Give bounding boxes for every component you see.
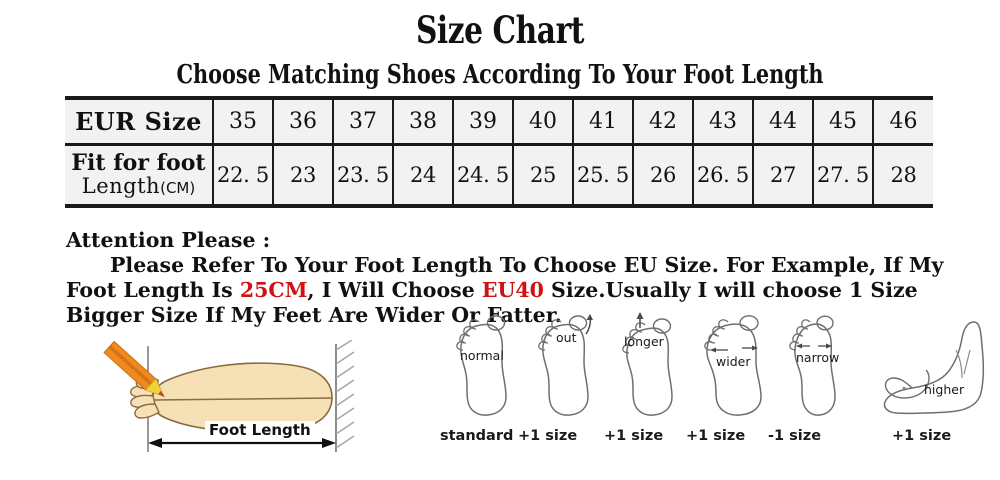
row-header-eur-size: EUR Size bbox=[65, 98, 213, 144]
attention-heading: Attention Please : bbox=[66, 228, 946, 253]
foot-type-narrow-icon: narrow bbox=[790, 316, 839, 415]
foot-type-caption-higher: +1 size bbox=[892, 428, 951, 444]
attention-highlight-length: 25CM bbox=[240, 278, 308, 302]
cell-len-5: 25 bbox=[513, 144, 573, 206]
cell-len-8: 26. 5 bbox=[693, 144, 753, 206]
cell-eur-10: 45 bbox=[813, 98, 873, 144]
cell-eur-0: 35 bbox=[213, 98, 273, 144]
foot-type-caption-standard: standard bbox=[440, 428, 513, 444]
cell-len-0: 22. 5 bbox=[213, 144, 273, 206]
row-header-unit: (CM) bbox=[160, 179, 195, 197]
cell-len-3: 24 bbox=[393, 144, 453, 206]
foot-type-longer-icon: longer bbox=[623, 312, 672, 415]
cell-len-2: 23. 5 bbox=[333, 144, 393, 206]
cell-eur-7: 42 bbox=[633, 98, 693, 144]
cell-eur-6: 41 bbox=[573, 98, 633, 144]
foot-type-higher-icon: higher bbox=[884, 322, 983, 413]
foot-type-out-icon: out bbox=[539, 314, 593, 415]
page-subtitle: Choose Matching Shoes According To Your … bbox=[100, 60, 900, 90]
page-title: Size Chart bbox=[100, 8, 900, 52]
cell-len-6: 25. 5 bbox=[573, 144, 633, 206]
cell-eur-1: 36 bbox=[273, 98, 333, 144]
foot-type-inner-label-out: out bbox=[556, 330, 577, 345]
foot-length-dimension-arrow bbox=[148, 438, 336, 448]
cell-len-4: 24. 5 bbox=[453, 144, 513, 206]
foot-type-inner-label-longer: longer bbox=[624, 334, 665, 349]
row-header-line1: Fit for foot bbox=[65, 152, 212, 175]
wall-hatch-icon bbox=[336, 340, 354, 452]
foot-type-normal-icon: normal bbox=[457, 316, 506, 415]
foot-measure-diagram bbox=[96, 340, 366, 460]
size-chart-page: Size Chart Choose Matching Shoes Accordi… bbox=[0, 0, 1000, 480]
cell-len-10: 27. 5 bbox=[813, 144, 873, 206]
foot-type-caption-out: +1 size bbox=[518, 428, 577, 444]
row-header-foot-length: Fit for foot Length(CM) bbox=[65, 144, 213, 206]
cell-len-7: 26 bbox=[633, 144, 693, 206]
cell-eur-9: 44 bbox=[753, 98, 813, 144]
foot-type-caption-narrow: -1 size bbox=[768, 428, 821, 444]
foot-type-captions: standard +1 size +1 size +1 size -1 size… bbox=[430, 428, 990, 452]
cell-eur-3: 38 bbox=[393, 98, 453, 144]
cell-eur-8: 43 bbox=[693, 98, 753, 144]
foot-type-wider-icon: wider bbox=[705, 316, 761, 415]
foot-type-caption-wider: +1 size bbox=[686, 428, 745, 444]
cell-eur-2: 37 bbox=[333, 98, 393, 144]
foot-type-inner-label-higher: higher bbox=[924, 382, 965, 397]
cell-eur-4: 39 bbox=[453, 98, 513, 144]
size-table: EUR Size 35 36 37 38 39 40 41 42 43 44 4… bbox=[65, 96, 933, 208]
foot-length-label: Foot Length bbox=[205, 421, 315, 439]
foot-type-caption-longer: +1 size bbox=[604, 428, 663, 444]
cell-len-9: 27 bbox=[753, 144, 813, 206]
cell-len-1: 23 bbox=[273, 144, 333, 206]
table-row-foot-length: Fit for foot Length(CM) 22. 5 23 23. 5 2… bbox=[65, 144, 933, 206]
foot-type-inner-label-narrow: narrow bbox=[796, 350, 839, 365]
foot-type-inner-label-normal: normal bbox=[460, 348, 504, 363]
foot-types-diagram: normal out longer bbox=[430, 308, 990, 420]
cell-eur-5: 40 bbox=[513, 98, 573, 144]
row-header-length-word: Length bbox=[82, 174, 160, 198]
attention-highlight-eu: EU40 bbox=[482, 278, 544, 302]
row-header-line2: Length(CM) bbox=[65, 175, 212, 197]
foot-type-inner-label-wider: wider bbox=[716, 354, 751, 369]
table-row-eur-size: EUR Size 35 36 37 38 39 40 41 42 43 44 4… bbox=[65, 98, 933, 144]
attention-part-2: , I Will Choose bbox=[307, 278, 481, 302]
cell-eur-11: 46 bbox=[873, 98, 933, 144]
cell-len-11: 28 bbox=[873, 144, 933, 206]
